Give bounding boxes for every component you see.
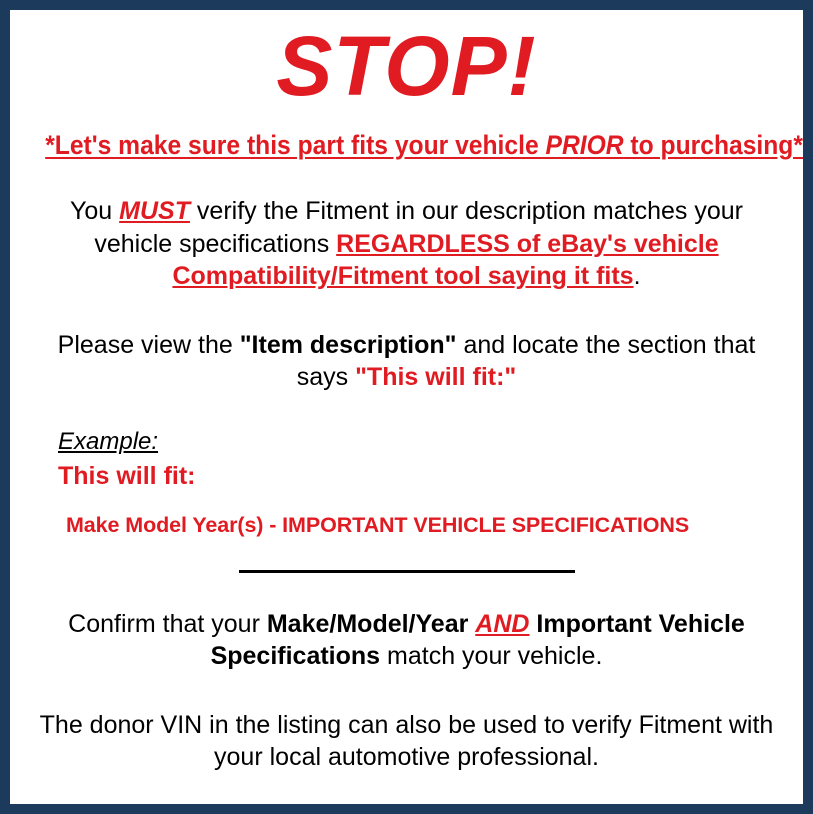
this-will-fit-quote: "This will fit:"	[355, 363, 516, 391]
and-keyword: AND	[475, 610, 529, 638]
subtitle-suffix: to purchasing*	[624, 130, 803, 160]
divider-row	[18, 539, 795, 581]
example-fit-heading: This will fit:	[58, 457, 795, 491]
confirm-seg-1: Confirm that your	[68, 610, 267, 638]
horizontal-rule-icon	[239, 570, 575, 573]
subtitle-line: *Let's make sure this part fits your veh…	[45, 108, 768, 160]
example-label-row: Example:	[58, 428, 795, 457]
subtitle-prefix: *Let's make sure this part fits your veh…	[45, 130, 545, 160]
notice-content: STOP! *Let's make sure this part fits yo…	[10, 10, 803, 804]
confirm-seg-2: match your vehicle.	[380, 642, 602, 670]
must-keyword: MUST	[119, 197, 190, 225]
donor-vin-paragraph: The donor VIN in the listing can also be…	[18, 673, 795, 774]
view-seg-1: Please view the	[58, 331, 240, 359]
stop-headline: STOP!	[18, 10, 795, 108]
must-seg-1: You	[70, 197, 119, 225]
thank-you-line: Thank you for confirming Fitment!	[18, 774, 795, 814]
example-spec-line: Make Model Year(s) - IMPORTANT VEHICLE S…	[58, 491, 795, 539]
make-model-year-label: Make/Model/Year	[267, 610, 468, 638]
example-block: Example: This will fit: Make Model Year(…	[18, 394, 795, 539]
item-description-label: "Item description"	[240, 331, 457, 359]
confirm-paragraph: Confirm that your Make/Model/Year AND Im…	[18, 581, 795, 673]
must-verify-paragraph: You MUST verify the Fitment in our descr…	[18, 160, 795, 293]
must-seg-3: .	[634, 262, 641, 290]
subtitle-emphasis-prior: PRIOR	[546, 130, 624, 160]
view-description-paragraph: Please view the "Item description" and l…	[18, 293, 795, 394]
fitment-notice-card: STOP! *Let's make sure this part fits yo…	[0, 0, 813, 814]
example-label: Example:	[58, 428, 158, 457]
